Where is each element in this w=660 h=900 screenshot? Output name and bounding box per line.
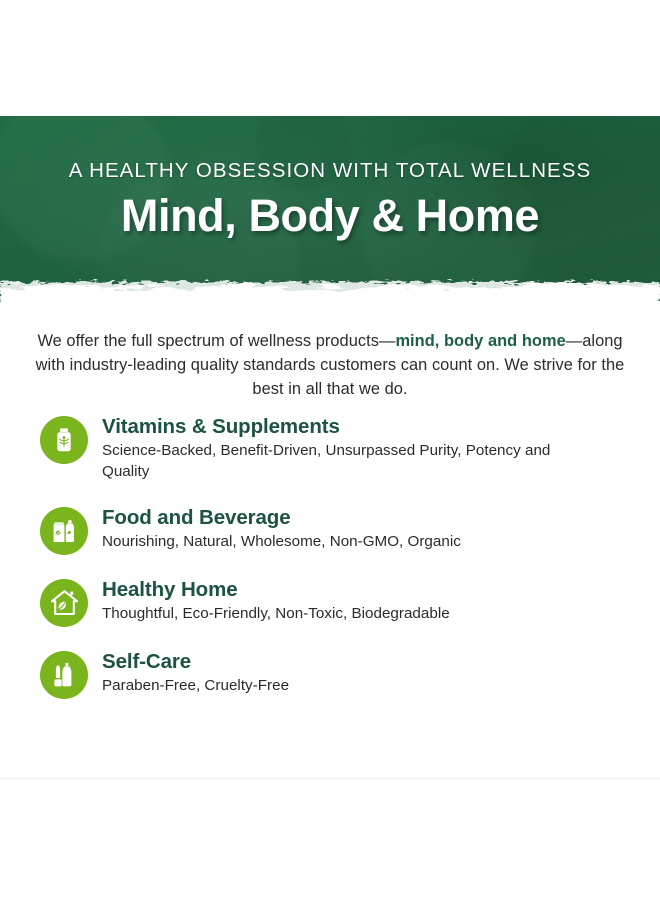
intro-text-part1: We offer the full spectrum of wellness p…: [37, 332, 395, 350]
feature-icon-circle: [40, 416, 88, 464]
feature-description: Paraben-Free, Cruelty-Free: [102, 676, 289, 697]
feature-title: Self-Care: [102, 650, 289, 674]
feature-title: Healthy Home: [102, 578, 450, 602]
feature-icon-circle: [40, 651, 88, 699]
hero-title: Mind, Body & Home: [0, 192, 660, 241]
lotion-bottle-and-brush-icon: [49, 660, 79, 690]
feature-text-block: Vitamins & Supplements Science-Backed, B…: [102, 414, 572, 483]
hero-content: A HEALTHY OBSESSION WITH TOTAL WELLNESS …: [0, 116, 660, 240]
wellness-infographic-page: A HEALTHY OBSESSION WITH TOTAL WELLNESS …: [0, 0, 660, 900]
hero-banner: A HEALTHY OBSESSION WITH TOTAL WELLNESS …: [0, 116, 660, 306]
feature-text-block: Self-Care Paraben-Free, Cruelty-Free: [102, 649, 289, 697]
feature-item-healthy-home[interactable]: Healthy Home Thoughtful, Eco-Friendly, N…: [40, 577, 620, 627]
feature-item-vitamins-supplements[interactable]: Vitamins & Supplements Science-Backed, B…: [40, 414, 620, 483]
feature-list: Vitamins & Supplements Science-Backed, B…: [40, 414, 620, 721]
feature-title: Food and Beverage: [102, 506, 461, 530]
feature-text-block: Food and Beverage Nourishing, Natural, W…: [102, 505, 461, 553]
feature-title: Vitamins & Supplements: [102, 415, 572, 439]
feature-item-self-care[interactable]: Self-Care Paraben-Free, Cruelty-Free: [40, 649, 620, 699]
feature-icon-circle: [40, 507, 88, 555]
feature-icon-circle: [40, 579, 88, 627]
intro-highlight: mind, body and home: [395, 332, 565, 350]
food-pouch-and-bottle-icon: [49, 516, 79, 546]
feature-description: Nourishing, Natural, Wholesome, Non-GMO,…: [102, 532, 461, 553]
feature-item-food-beverage[interactable]: Food and Beverage Nourishing, Natural, W…: [40, 505, 620, 555]
hero-eyebrow: A HEALTHY OBSESSION WITH TOTAL WELLNESS: [0, 160, 660, 183]
feature-text-block: Healthy Home Thoughtful, Eco-Friendly, N…: [102, 577, 450, 625]
feature-description: Thoughtful, Eco-Friendly, Non-Toxic, Bio…: [102, 604, 450, 625]
intro-paragraph: We offer the full spectrum of wellness p…: [30, 330, 630, 401]
bottom-divider: [0, 778, 660, 779]
house-with-leaf-icon: [49, 587, 80, 618]
feature-description: Science-Backed, Benefit-Driven, Unsurpas…: [102, 441, 572, 483]
supplement-bottle-icon: [49, 425, 79, 455]
